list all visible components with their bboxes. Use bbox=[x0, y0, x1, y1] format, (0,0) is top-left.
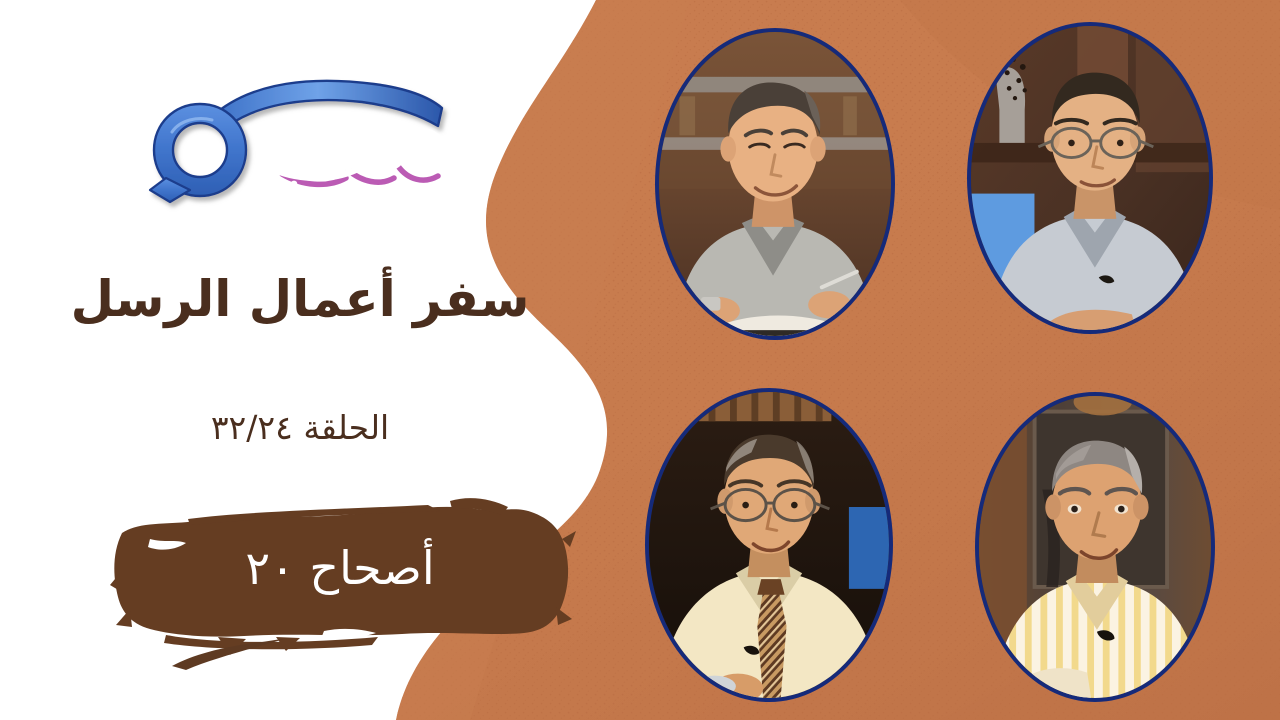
program-logo[interactable] bbox=[142, 70, 452, 220]
portrait-bottom-left[interactable] bbox=[645, 388, 893, 702]
logo-calligraphy bbox=[270, 116, 442, 187]
left-panel: سفر أعمال الرسل الحلقة ٣٢/٢٤ bbox=[0, 0, 600, 720]
chapter-badge[interactable]: أصحاح ٢٠ bbox=[110, 485, 580, 655]
title-card: سفر أعمال الرسل الحلقة ٣٢/٢٤ bbox=[0, 0, 1280, 720]
brush-fleck-bottom bbox=[170, 636, 290, 676]
portrait-top-right[interactable] bbox=[967, 22, 1213, 334]
episode-label: الحلقة ٣٢/٢٤ bbox=[0, 408, 600, 447]
portrait-bottom-right[interactable] bbox=[975, 392, 1215, 702]
page-title: سفر أعمال الرسل bbox=[0, 272, 600, 327]
portrait-top-left[interactable] bbox=[655, 28, 895, 340]
chapter-badge-label: أصحاح ٢٠ bbox=[110, 485, 580, 655]
